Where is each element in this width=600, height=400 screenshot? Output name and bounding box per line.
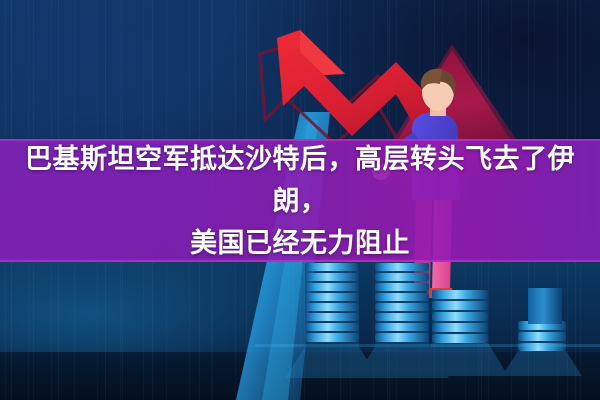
coin-stack-1 [305, 263, 359, 347]
headline-overlay-band: 巴基斯坦空军抵达沙特后，高层转头飞去了伊朗， 美国已经无力阻止 [0, 139, 600, 262]
headline-text: 巴基斯坦空军抵达沙特后，高层转头飞去了伊朗， 美国已经无力阻止 [0, 138, 600, 264]
headline-line-2: 美国已经无力阻止 [0, 222, 600, 264]
blue-panel [528, 288, 562, 324]
coin-stack-chart [255, 263, 600, 378]
headline-banner-image: 巴基斯坦空军抵达沙特后，高层转头飞去了伊朗， 美国已经无力阻止 [0, 0, 600, 400]
headline-line-1: 巴基斯坦空军抵达沙特后，高层转头飞去了伊朗， [0, 138, 600, 222]
coin-stack-3 [432, 290, 488, 343]
coin-stack-2 [375, 263, 429, 347]
